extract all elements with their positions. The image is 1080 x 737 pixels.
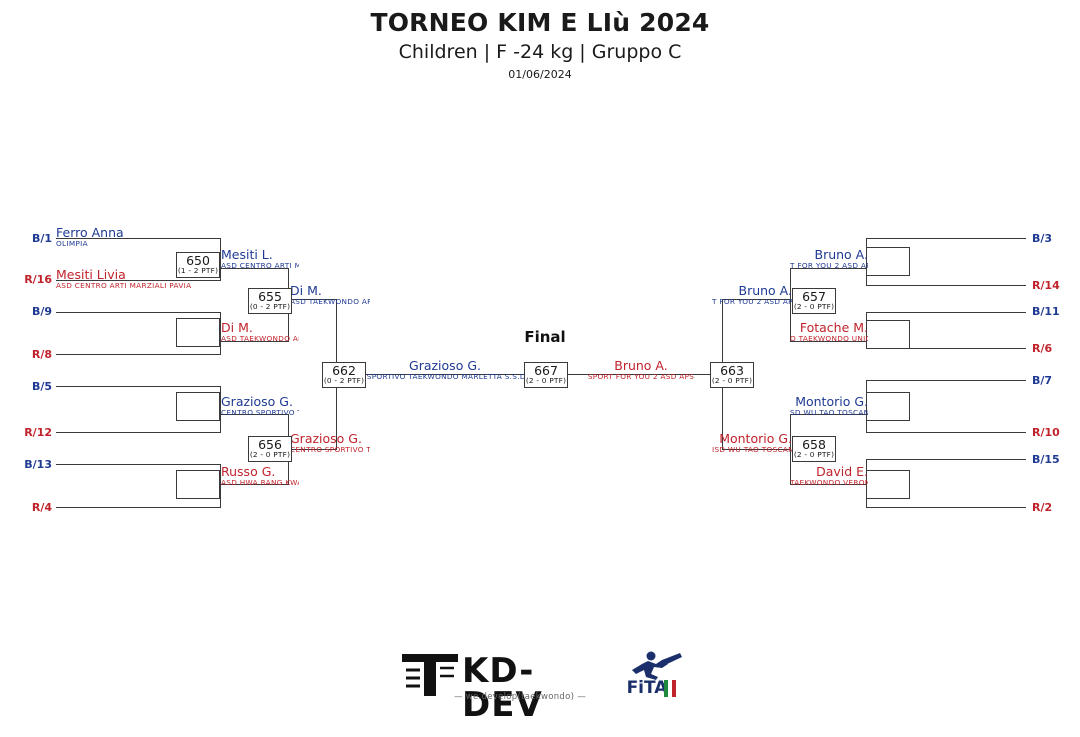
bracket-line <box>866 380 1026 381</box>
competitor-left-sf-2: Grazioso G. CENTRO SPORTIVO TAI <box>290 432 370 454</box>
bracket-line <box>866 507 1026 508</box>
competitor-name: Montorio G. <box>790 395 868 408</box>
competitor-name: Ferro Anna <box>56 226 226 239</box>
page-date: 01/06/2024 <box>0 66 1080 84</box>
bracket-line <box>56 386 220 387</box>
match-score: (1 - 2 PTF) <box>177 267 219 275</box>
seed-left-2: R/16 <box>14 274 52 285</box>
seed-left-5: B/5 <box>22 381 52 392</box>
match-id: 662 <box>323 363 365 377</box>
seed-left-8: R/4 <box>22 502 52 513</box>
match-score: (0 - 2 PTF) <box>249 303 291 311</box>
match-id: 658 <box>793 437 835 451</box>
competitor-right-sf-2: Montorio G. ıSD WU TAO TOSCANO <box>712 432 792 454</box>
empty-score-box[interactable] <box>176 318 220 347</box>
competitor-right-qf-1: Bruno A. T FOR YOU 2 ASD APS <box>790 248 868 270</box>
competitor-name: Bruno A. <box>712 284 792 297</box>
bracket-line <box>56 507 220 508</box>
italy-flag-icon <box>664 680 676 697</box>
empty-score-box[interactable] <box>176 470 220 499</box>
bracket-line <box>56 354 220 355</box>
seed-right-7: B/15 <box>1032 454 1060 465</box>
match-score: (0 - 2 PTF) <box>323 377 365 385</box>
match-box-655[interactable]: 655 (0 - 2 PTF) <box>248 288 292 314</box>
competitor-left-qf-3: Grazioso G. CENTRO SPORTIVO TA <box>221 395 299 417</box>
competitor-club: T FOR YOU 2 ASD APS <box>712 297 792 306</box>
competitor-left-qf-4: Russo G. ASD HWA RANG KWAN <box>221 465 299 487</box>
competitor-name: Mesiti L. <box>221 248 299 261</box>
competitor-right-sf-1: Bruno A. T FOR YOU 2 ASD APS <box>712 284 792 306</box>
bracket-line <box>866 238 1026 239</box>
page-subtitle: Children | F -24 kg | Gruppo C <box>0 38 1080 66</box>
tkd-wordmark: KD-DEV <box>462 654 588 722</box>
bracket-page: TORNEO KIM E LIù 2024 Children | F -24 k… <box>0 0 1080 737</box>
seed-left-1: B/1 <box>22 233 52 244</box>
match-box-667[interactable]: 667 (2 - 0 PTF) <box>524 362 568 388</box>
competitor-name: Russo G. <box>221 465 299 478</box>
competitor-name: Bruno A. <box>790 248 868 261</box>
competitor-club: ASD CENTRO ARTI MA <box>221 261 299 270</box>
competitor-left-sf-1: Di M. ASD TAEKWONDO ARD <box>290 284 370 306</box>
competitor-club: TAEKWONDO VERONA <box>790 478 868 487</box>
empty-score-box[interactable] <box>866 320 910 349</box>
competitor-name: Montorio G. <box>712 432 792 445</box>
empty-score-box[interactable] <box>866 392 910 421</box>
seed-left-4: R/8 <box>22 349 52 360</box>
competitor-club: ASD CENTRO ARTI MARZIALI PAVIA <box>56 281 236 290</box>
empty-score-box[interactable] <box>176 392 220 421</box>
match-score: (2 - 0 PTF) <box>249 451 291 459</box>
seed-left-3: B/9 <box>22 306 52 317</box>
page-title: TORNEO KIM E LIù 2024 <box>0 8 1080 38</box>
competitor-name: Grazioso G. <box>290 432 370 445</box>
empty-score-box[interactable] <box>866 247 910 276</box>
empty-score-box[interactable] <box>866 470 910 499</box>
match-id: 667 <box>525 363 567 377</box>
competitor-name: Grazioso G. <box>360 359 530 372</box>
finalist-left: Grazioso G. TRO SPORTIVO TAEKWONDO MARLE… <box>360 359 530 381</box>
match-box-663[interactable]: 663 (2 - 0 PTF) <box>710 362 754 388</box>
bracket-line <box>56 312 220 313</box>
competitor-name: Bruno A. <box>560 359 722 372</box>
match-score: (2 - 0 PTF) <box>711 377 753 385</box>
match-id: 656 <box>249 437 291 451</box>
competitor-name: Fotache M. <box>790 321 868 334</box>
match-score: (2 - 0 PTF) <box>525 377 567 385</box>
competitor-club: ASD TAEKWONDO ARD <box>221 334 299 343</box>
seed-right-2: R/14 <box>1032 280 1060 291</box>
bracket-line <box>56 464 220 465</box>
competitor-club: OLIMPIA <box>56 239 226 248</box>
finalist-right: Bruno A. SPORT FOR YOU 2 ASD APS <box>560 359 722 381</box>
competitor-club: SD WU TAO TOSCANO <box>790 408 868 417</box>
competitor-right-qf-2: Fotache M. O TAEKWONDO UNION <box>790 321 868 343</box>
competitor-left-qf-1: Mesiti L. ASD CENTRO ARTI MA <box>221 248 299 270</box>
competitor-club: SPORT FOR YOU 2 ASD APS <box>560 372 722 381</box>
competitor-right-qf-4: David E. TAEKWONDO VERONA <box>790 465 868 487</box>
seed-right-8: R/2 <box>1032 502 1052 513</box>
fita-logo: FiTA <box>618 650 684 706</box>
seed-right-3: B/11 <box>1032 306 1060 317</box>
footer: KD-DEV — we.develop(taekwondo) — FiTA <box>0 648 1080 718</box>
competitor-name: Di M. <box>221 321 299 334</box>
seed-left-6: R/12 <box>14 427 52 438</box>
page-header: TORNEO KIM E LIù 2024 Children | F -24 k… <box>0 8 1080 84</box>
bracket-line <box>866 459 1026 460</box>
match-score: (2 - 0 PTF) <box>793 303 835 311</box>
bracket-line <box>56 432 220 433</box>
competitor-left-qf-2: Di M. ASD TAEKWONDO ARD <box>221 321 299 343</box>
bracket-line <box>866 312 1026 313</box>
match-box-658[interactable]: 658 (2 - 0 PTF) <box>792 436 836 462</box>
competitor-club: TRO SPORTIVO TAEKWONDO MARLETTA S.S.D. A <box>360 372 530 381</box>
match-id: 657 <box>793 289 835 303</box>
competitor-name: Di M. <box>290 284 370 297</box>
competitor-club: ASD TAEKWONDO ARD <box>290 297 370 306</box>
bracket-line <box>866 432 1026 433</box>
competitor-club: ıSD WU TAO TOSCANO <box>712 445 792 454</box>
competitor-club: CENTRO SPORTIVO TAI <box>290 445 370 454</box>
match-box-650[interactable]: 650 (1 - 2 PTF) <box>176 252 220 278</box>
competitor-left-1: Ferro Anna OLIMPIA <box>56 226 226 248</box>
match-box-662[interactable]: 662 (0 - 2 PTF) <box>322 362 366 388</box>
competitor-club: CENTRO SPORTIVO TA <box>221 408 299 417</box>
seed-right-6: R/10 <box>1032 427 1060 438</box>
seed-right-5: B/7 <box>1032 375 1052 386</box>
competitor-right-qf-3: Montorio G. SD WU TAO TOSCANO <box>790 395 868 417</box>
match-box-657[interactable]: 657 (2 - 0 PTF) <box>792 288 836 314</box>
competitor-name: Grazioso G. <box>221 395 299 408</box>
match-id: 655 <box>249 289 291 303</box>
competitor-club: T FOR YOU 2 ASD APS <box>790 261 868 270</box>
tkd-tagline: — we.develop(taekwondo) — <box>450 692 590 702</box>
competitor-club: O TAEKWONDO UNION <box>790 334 868 343</box>
tkd-dev-logo: KD-DEV — we.develop(taekwondo) — <box>398 650 588 706</box>
seed-right-1: B/3 <box>1032 233 1052 244</box>
match-id: 650 <box>177 253 219 267</box>
competitor-name: David E. <box>790 465 868 478</box>
match-score: (2 - 0 PTF) <box>793 451 835 459</box>
competitor-club: ASD HWA RANG KWAN <box>221 478 299 487</box>
seed-right-4: R/6 <box>1032 343 1052 354</box>
bracket-line <box>866 285 1026 286</box>
final-label: Final <box>485 328 605 346</box>
seed-left-7: B/13 <box>14 459 52 470</box>
match-box-656[interactable]: 656 (2 - 0 PTF) <box>248 436 292 462</box>
match-id: 663 <box>711 363 753 377</box>
